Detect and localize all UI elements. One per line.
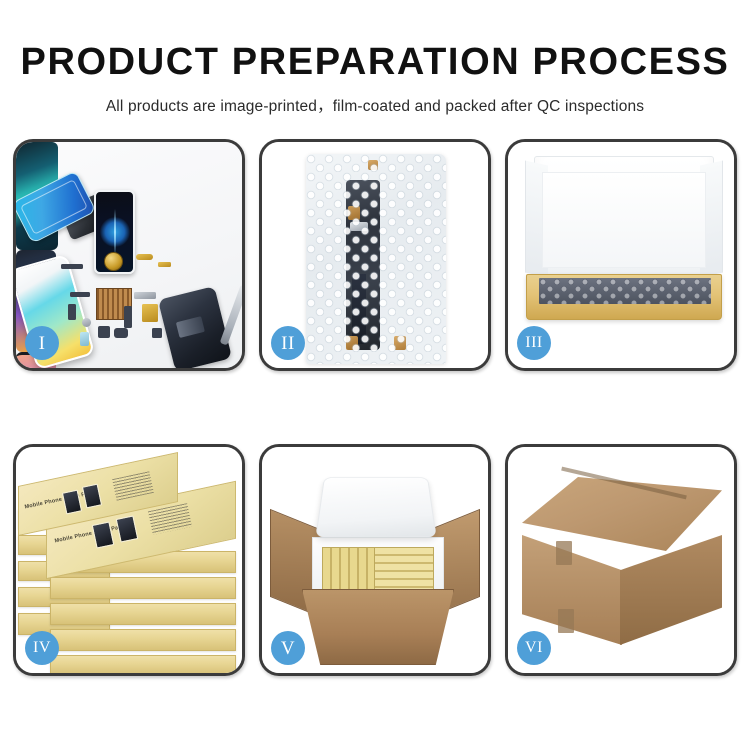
- part-glass-chip-icon: [80, 332, 89, 346]
- part-camera-icon: [98, 326, 110, 338]
- part-flex-gold-icon: [136, 254, 153, 260]
- panel-foam-carton[interactable]: V: [259, 444, 491, 676]
- box-edge-r2: [50, 577, 236, 599]
- step-badge-5: V: [271, 631, 305, 665]
- panel-inner-box[interactable]: III: [505, 139, 737, 371]
- carton-body-icon: [302, 589, 454, 665]
- speaker-mesh-icon: [104, 252, 123, 271]
- panel-bubble-wrap[interactable]: II: [259, 139, 491, 371]
- part-bracket-icon: [70, 292, 90, 297]
- page-subtitle: All products are image-printed，film-coat…: [0, 94, 750, 116]
- part-button-icon: [82, 318, 91, 327]
- part-shield-icon: [134, 292, 156, 299]
- white-foam-sheet-icon: [542, 172, 706, 268]
- page-title: PRODUCT PREPARATION PROCESS: [0, 43, 750, 81]
- step-badge-2: II: [271, 326, 305, 360]
- step-badge-4: IV: [25, 631, 59, 665]
- carton-right-face-icon: [620, 535, 722, 645]
- part-flex-cable-icon: [142, 304, 158, 322]
- step-badge-6: VI: [517, 631, 551, 665]
- yellow-box-tray-icon: [526, 274, 722, 320]
- box-edge-r5: [50, 655, 236, 673]
- box-edge-r4: [50, 629, 236, 651]
- part-clip-icon: [68, 304, 76, 320]
- carton-tape-lower-icon: [558, 609, 574, 633]
- bubble-wrapped-contents-icon: [539, 278, 711, 304]
- foam-lid-icon: [315, 477, 436, 537]
- tweezers-icon: [220, 285, 242, 346]
- box-edge-r3: [50, 603, 236, 625]
- part-vibrator-icon: [114, 328, 128, 338]
- step-badge-1: I: [25, 326, 59, 360]
- phone-housing-icon: [158, 286, 232, 368]
- header: PRODUCT PREPARATION PROCESS All products…: [0, 0, 750, 116]
- part-antenna-icon: [124, 306, 132, 328]
- bubble-wrap-bag-icon: [306, 154, 446, 364]
- panel-sealed-carton[interactable]: VI: [505, 444, 737, 676]
- part-screw-plate-icon: [152, 328, 162, 338]
- carton-tape-upper-icon: [556, 541, 572, 565]
- panel-stacked-boxes[interactable]: Mobile Phone Spare Parts Mobile Phone Sp…: [13, 444, 245, 676]
- yellow-boxes-stack-icon: [374, 547, 434, 591]
- part-connector-gold-icon: [158, 262, 171, 267]
- part-strip-icon: [61, 264, 83, 269]
- process-steps-grid: I II: [13, 139, 737, 676]
- bubble-texture: [306, 154, 446, 364]
- step-badge-3: III: [517, 326, 551, 360]
- carton-top-face-icon: [522, 477, 722, 551]
- panel-products-and-spare-parts[interactable]: I: [13, 139, 245, 371]
- product-preparation-process-infographic: PRODUCT PREPARATION PROCESS All products…: [0, 0, 750, 750]
